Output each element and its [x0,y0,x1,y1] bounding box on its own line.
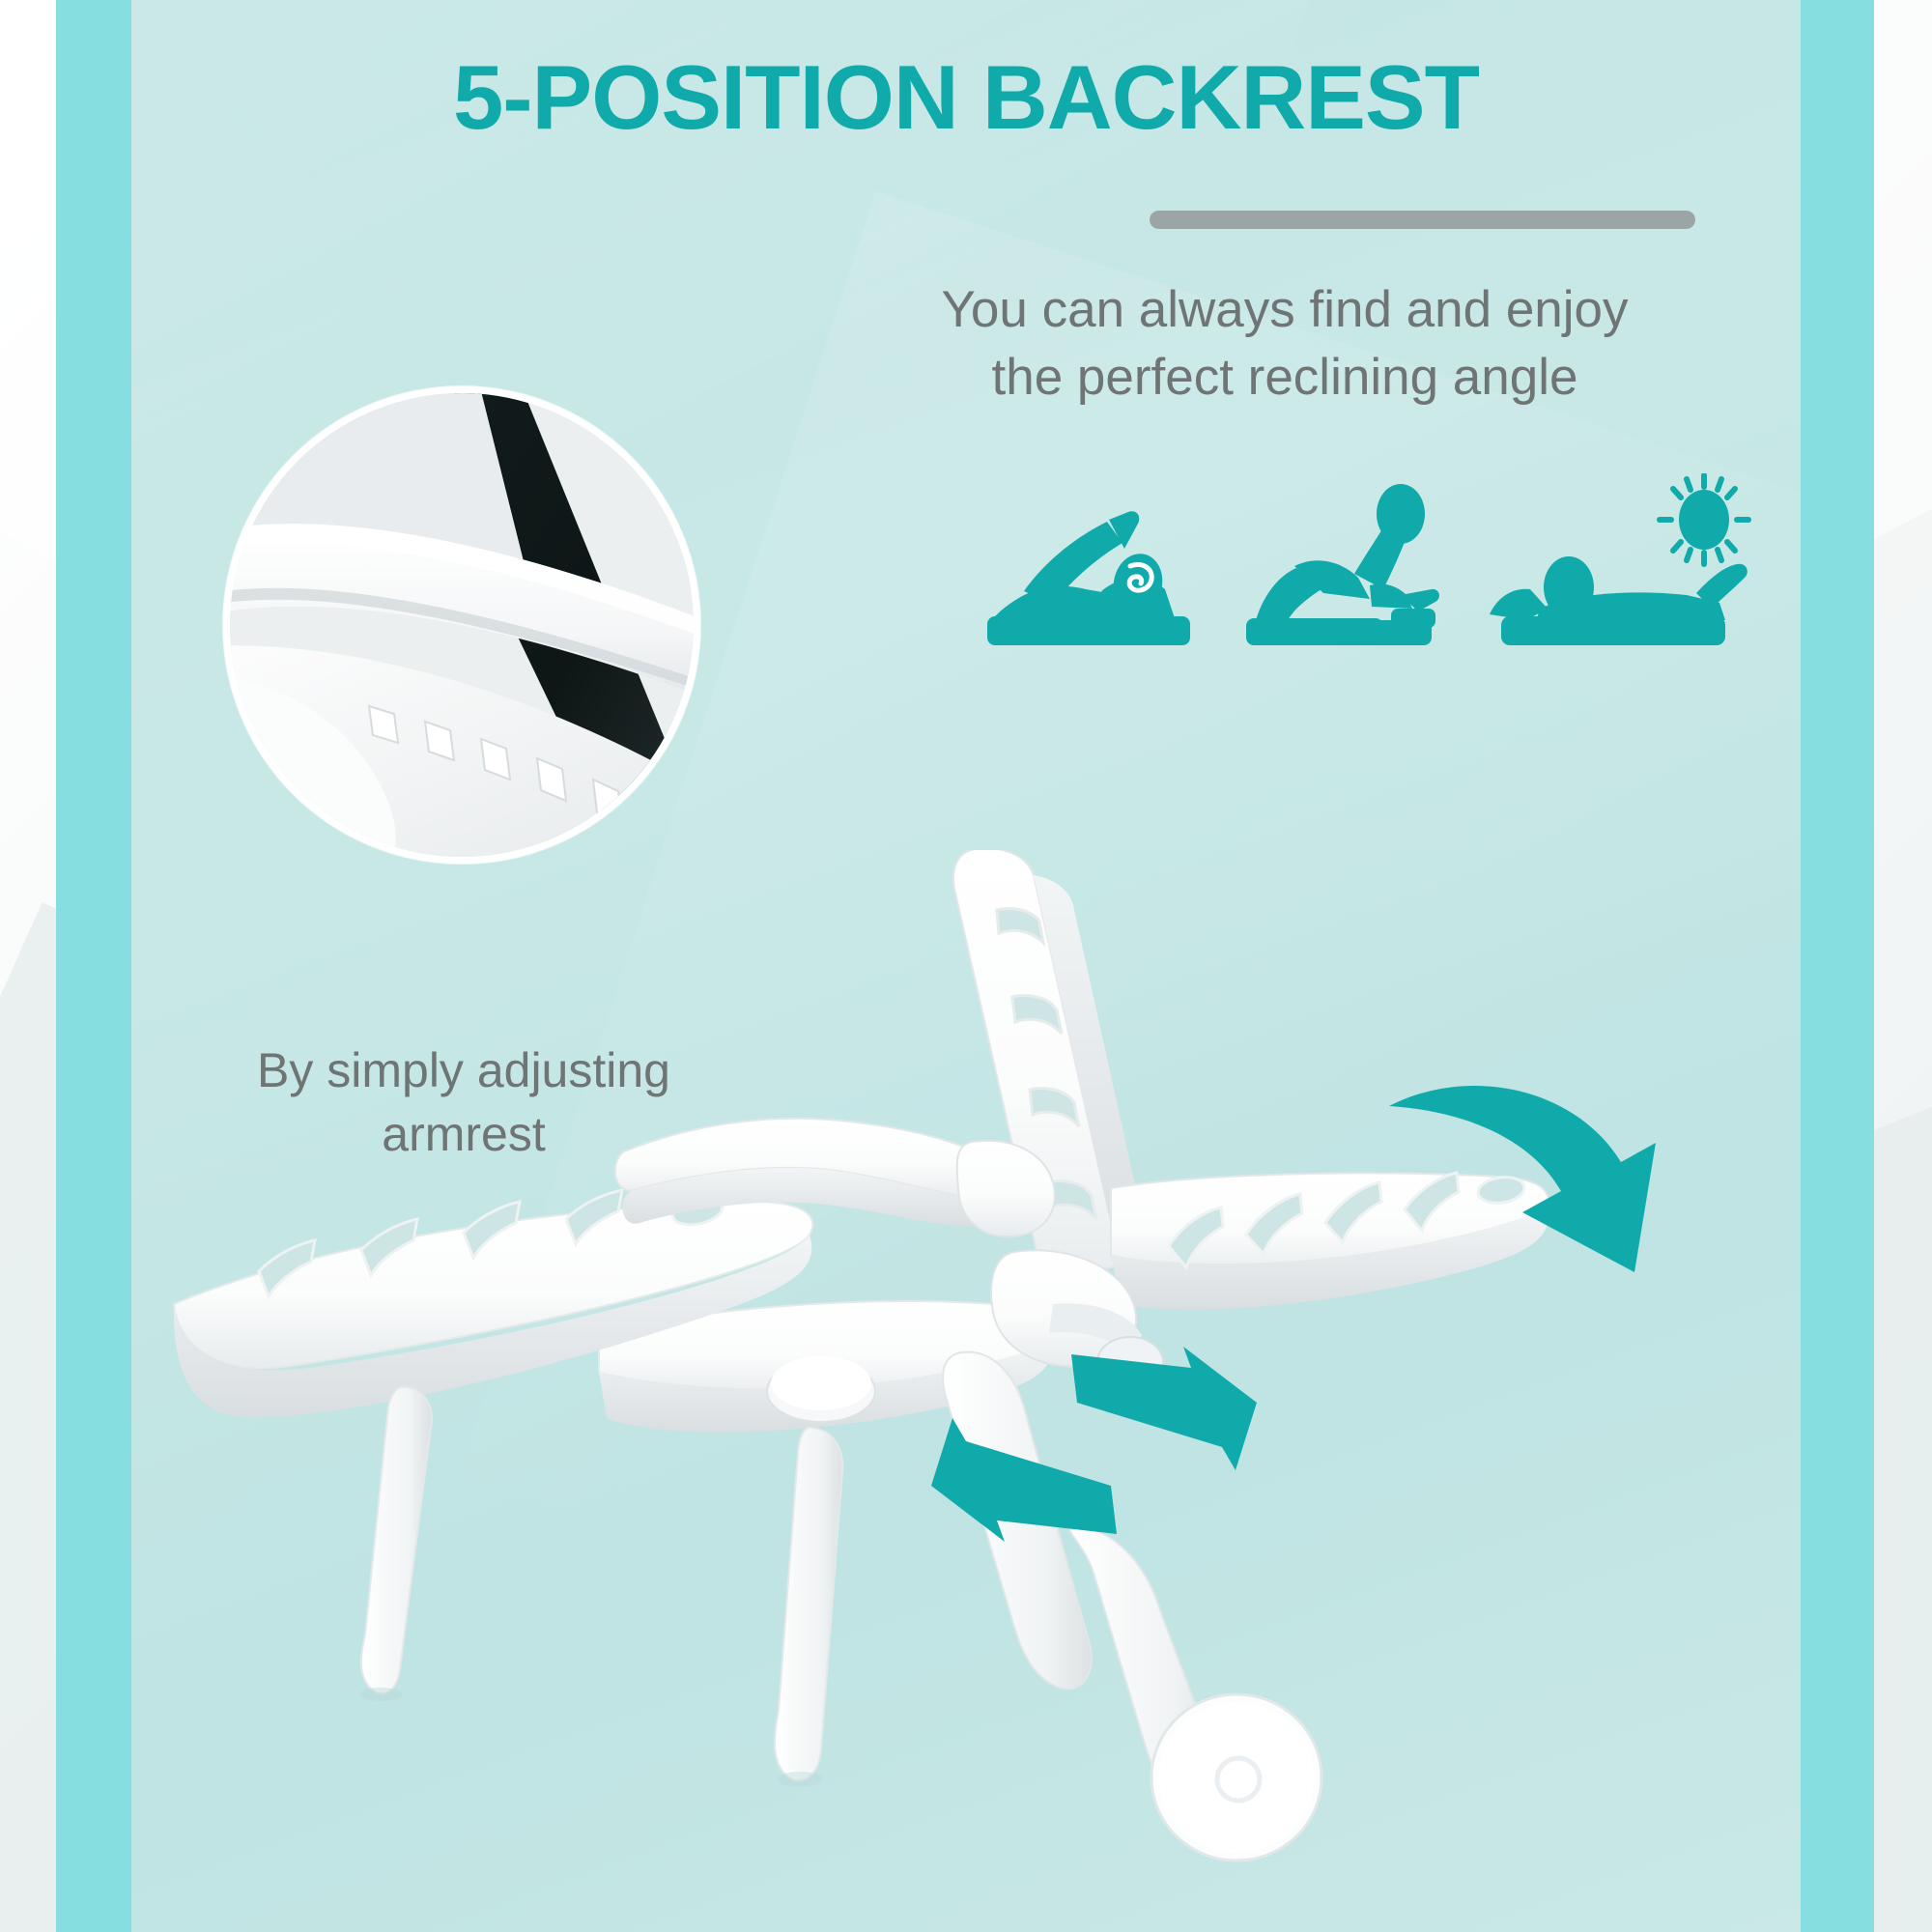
edge-accent-strip-left [56,0,131,1932]
curved-arrow-down-right-icon [1381,1067,1690,1290]
person-sitting-reclined-icon [1246,473,1468,657]
transport-wheel [1151,1694,1321,1861]
position-pictogram-row [966,473,1739,657]
person-lying-flat-sun-icon [1488,473,1758,657]
infographic-canvas: 5-POSITION BACKREST You can always find … [0,0,1932,1932]
folding-reclining-sun-lounger [145,850,1739,1874]
subtitle-line-1: You can always find and enjoy [869,276,1700,344]
arrow-up-left-icon [927,1410,1121,1546]
edge-accent-strip-right [1799,0,1874,1932]
rear-leg-front [775,1428,842,1781]
subtitle-line-2: the perfect reclining angle [869,344,1700,412]
title-divider [1150,211,1695,229]
subtitle: You can always find and enjoy the perfec… [869,276,1700,412]
front-leg [361,1387,432,1694]
page-title: 5-POSITION BACKREST [131,50,1801,146]
sun-icon [1660,475,1748,564]
armrest-ratchet-closeup [223,386,700,864]
person-lying-reading-icon [985,473,1207,657]
